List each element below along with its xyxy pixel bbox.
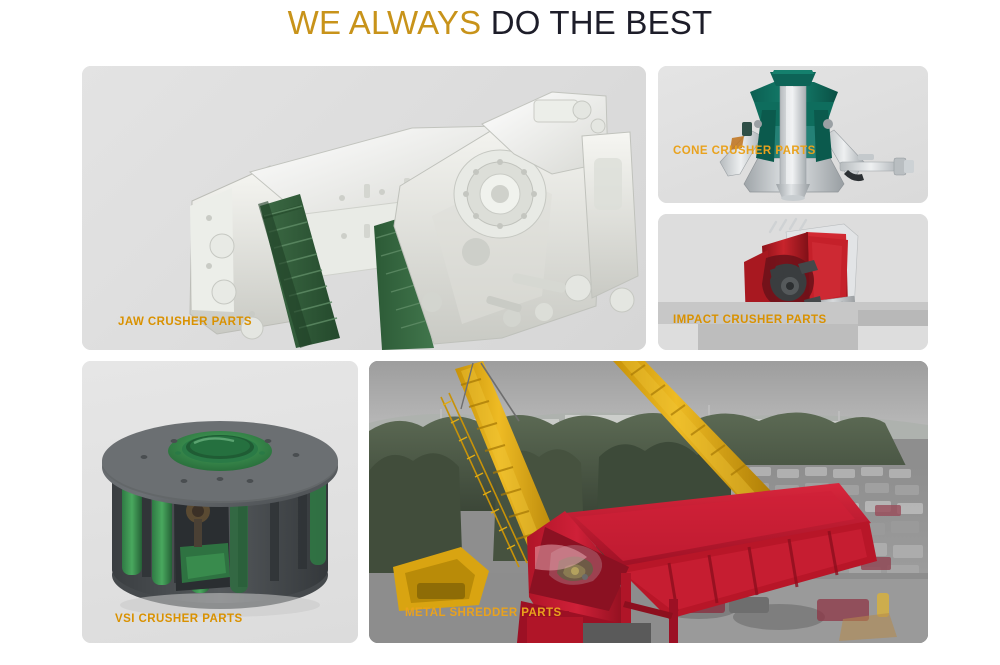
cone-crusher-illustration — [658, 66, 928, 203]
card-label-shredder: METAL SHREDDER PARTS — [405, 607, 562, 619]
page-title-highlight: WE ALWAYS — [288, 4, 482, 41]
cone-crusher-svg — [658, 66, 928, 203]
jaw-crusher-illustration — [82, 66, 646, 350]
metal-shredder-photo — [369, 361, 928, 643]
card-cone-crusher[interactable]: CONE CRUSHER PARTS — [658, 66, 928, 203]
card-vsi-crusher[interactable]: VSI CRUSHER PARTS — [82, 361, 358, 643]
background-band — [698, 324, 858, 350]
page-title: WE ALWAYS DO THE BEST — [0, 4, 1000, 42]
vsi-crusher-image — [82, 361, 358, 643]
background-band — [858, 310, 928, 326]
vsi-crusher-svg — [82, 361, 358, 643]
impact-crusher-image — [658, 214, 928, 350]
page-title-rest: DO THE BEST — [481, 4, 712, 41]
card-label-jaw: JAW CRUSHER PARTS — [118, 316, 252, 328]
card-jaw-crusher[interactable]: JAW CRUSHER PARTS — [82, 66, 646, 350]
showcase-page: WE ALWAYS DO THE BEST — [0, 0, 1000, 665]
cone-crusher-image — [658, 66, 928, 203]
jaw-crusher-image — [82, 66, 646, 350]
card-label-impact: IMPACT CRUSHER PARTS — [673, 314, 827, 326]
jaw-crusher-svg — [82, 66, 646, 350]
metal-shredder-svg — [369, 361, 928, 643]
card-metal-shredder[interactable]: METAL SHREDDER PARTS — [369, 361, 928, 643]
metal-shredder-image — [369, 361, 928, 643]
impact-crusher-illustration — [658, 214, 928, 350]
card-impact-crusher[interactable]: IMPACT CRUSHER PARTS — [658, 214, 928, 350]
vsi-crusher-illustration — [82, 361, 358, 643]
card-label-cone: CONE CRUSHER PARTS — [673, 145, 816, 157]
card-label-vsi: VSI CRUSHER PARTS — [115, 613, 243, 625]
